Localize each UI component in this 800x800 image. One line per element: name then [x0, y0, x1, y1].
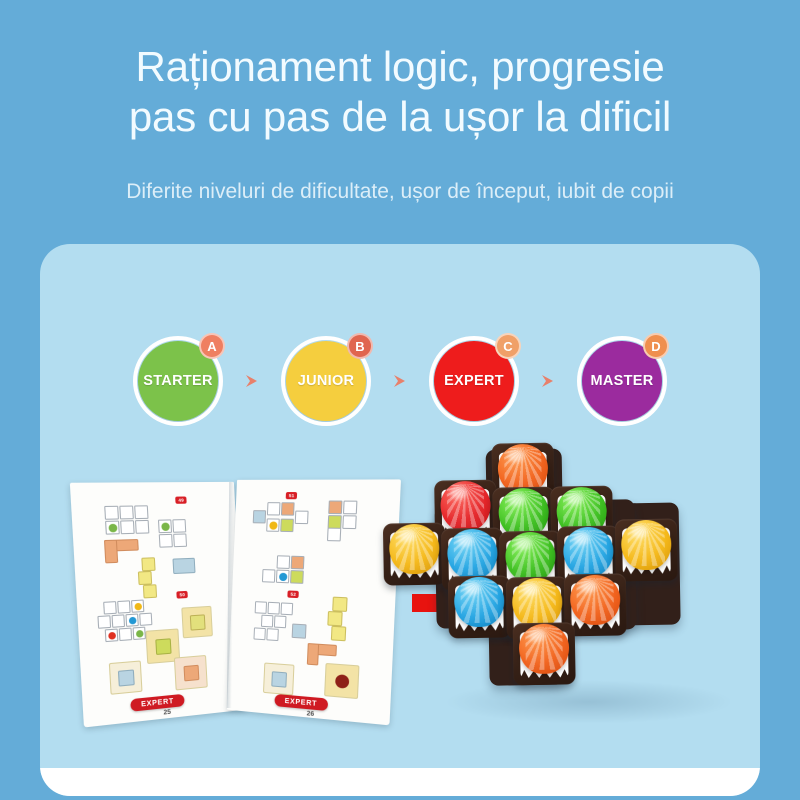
puzzle-booklet: 49 50 [68, 466, 398, 718]
right-page-banner: EXPERT [274, 694, 327, 711]
board-tile[interactable] [513, 622, 576, 685]
board-tile[interactable] [448, 575, 511, 638]
content-card: STARTER A JUNIOR B EXPERT C [40, 244, 760, 796]
page-subtitle: Diferite niveluri de dificultate, ușor d… [0, 178, 800, 206]
puzzle-tag: 51 [286, 492, 298, 499]
right-page-number: 26 [306, 710, 314, 718]
left-page-banner: EXPERT [130, 694, 184, 712]
chevron-right-icon [389, 370, 411, 392]
board-tile[interactable] [615, 518, 678, 581]
level-master[interactable]: MASTER D [577, 336, 667, 426]
gem-green[interactable] [505, 532, 556, 583]
booklet-left-page: 49 50 [70, 482, 246, 728]
gem-puzzle-board [427, 439, 752, 735]
left-page-number: 25 [163, 709, 171, 717]
chevron-right-icon [537, 370, 559, 392]
gem-yellow[interactable] [621, 520, 672, 571]
level-expert-badge: C [495, 333, 521, 359]
puzzle-tag: 49 [175, 496, 187, 503]
level-junior-badge: B [347, 333, 373, 359]
puzzle-tag: 50 [176, 591, 188, 599]
gem-yellow[interactable] [389, 524, 440, 575]
gem-red[interactable] [440, 481, 491, 532]
level-starter-badge: A [199, 333, 225, 359]
card-bottom-strip [40, 768, 760, 796]
level-master-badge: D [643, 333, 669, 359]
board-tile[interactable] [383, 523, 446, 586]
gem-blue[interactable] [563, 527, 614, 578]
gem-yellow[interactable] [512, 577, 563, 628]
gem-orange[interactable] [570, 574, 621, 625]
difficulty-levels: STARTER A JUNIOR B EXPERT C [40, 326, 760, 436]
header: Raționament logic, progresie pas cu pas … [0, 0, 800, 228]
level-expert[interactable]: EXPERT C [429, 336, 519, 426]
level-starter[interactable]: STARTER A [133, 336, 223, 426]
page-title: Raționament logic, progresie pas cu pas … [0, 42, 800, 142]
left-page-content: 49 50 [70, 482, 246, 728]
chevron-right-icon [241, 370, 263, 392]
gem-blue[interactable] [454, 577, 505, 628]
gem-blue[interactable] [447, 529, 498, 580]
right-page-content: 51 52 [227, 479, 401, 725]
gem-orange[interactable] [519, 623, 570, 674]
puzzle-tag: 52 [287, 590, 299, 598]
booklet-right-page: 51 52 [227, 479, 401, 725]
level-junior[interactable]: JUNIOR B [281, 336, 371, 426]
